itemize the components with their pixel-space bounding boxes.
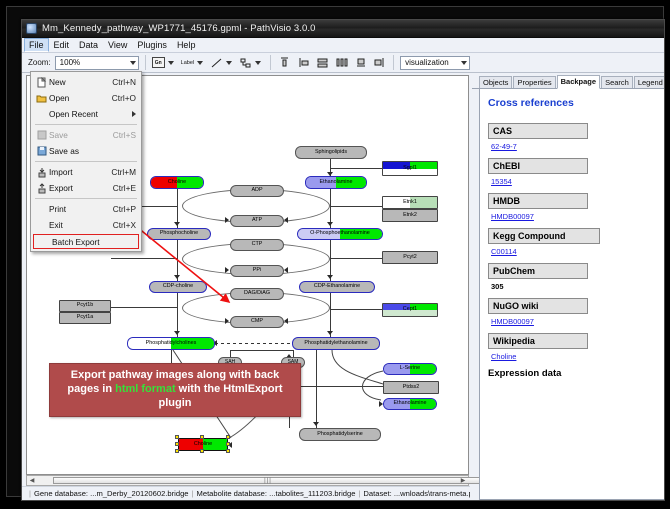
backpage-panel: Cross references CAS 62-49-7 ChEBI 15354… — [479, 89, 665, 500]
menu-item-accelerator: Ctrl+X — [113, 220, 141, 230]
node-label: Choline — [194, 442, 212, 448]
edge-pe-branch — [327, 350, 387, 388]
node-label: Ethanolamine — [320, 180, 353, 186]
interaction-tool[interactable] — [239, 57, 264, 69]
node-label: Phosphatidylcholines — [146, 341, 197, 347]
menu-item-exit[interactable]: Exit Ctrl+X — [31, 217, 141, 233]
arrowhead-icon — [284, 267, 288, 273]
xref-pubchem: PubChem 305 — [488, 263, 660, 291]
zoom-value: 100% — [60, 58, 80, 67]
handle-s[interactable] — [200, 449, 204, 453]
menu-item-open-recent[interactable]: Open Recent — [31, 106, 141, 122]
xref-value-link[interactable]: HMDB00097 — [488, 212, 660, 221]
xref-name: ChEBI — [488, 158, 588, 174]
menu-item-label: Export — [49, 183, 113, 193]
arrowhead-icon — [174, 275, 180, 279]
edge-pcyt1-connector — [111, 307, 177, 308]
menu-item-accelerator: Ctrl+S — [113, 130, 141, 140]
toolbar-separator — [145, 55, 146, 70]
menu-item-new[interactable]: New Ctrl+N — [31, 74, 141, 90]
menu-separator — [35, 198, 137, 199]
edge-sam-stub — [293, 350, 294, 357]
menu-item-label: Print — [49, 204, 113, 214]
menu-item-open[interactable]: Open Ctrl+O — [31, 90, 141, 106]
pathvisio-application-window: Mm_Kennedy_pathway_WP1771_45176.gpml - P… — [21, 19, 665, 501]
node-label: Etnk1 — [403, 200, 417, 206]
node-l-serine[interactable]: L-Serine — [383, 363, 437, 375]
tab-properties[interactable]: Properties — [513, 76, 555, 88]
arrowhead-icon — [174, 331, 180, 335]
menu-separator — [35, 124, 137, 125]
edge-to-etnk — [330, 206, 382, 207]
node-label: Cept1 — [403, 307, 417, 313]
menu-item-save-as[interactable]: Save as — [31, 143, 141, 159]
menu-item-accelerator: Ctrl+E — [113, 183, 141, 193]
status-bar: | Gene database: ...m_Derby_20120602.bri… — [22, 486, 470, 500]
menu-item-label: Open Recent — [49, 109, 132, 119]
edge-to-sgpl1 — [330, 168, 382, 169]
node-label: PPi — [253, 268, 261, 274]
edge-pcyt-connector — [111, 258, 177, 259]
node-adp[interactable]: ADP — [230, 185, 284, 197]
arrowhead-icon — [174, 222, 180, 226]
xref-name: Wikipedia — [488, 333, 588, 349]
node-cept1[interactable]: Cept1 — [382, 303, 438, 317]
xref-name: NuGO wiki — [488, 298, 588, 314]
metabolite-database-value: ...tabolites_111203.bridge — [269, 489, 355, 498]
node-phosphatidylethanolamine[interactable]: Phosphatidylethanolamine — [292, 337, 380, 350]
node-sgpl1[interactable]: Sgpl1 — [382, 161, 438, 176]
folder-open-icon — [34, 92, 49, 105]
blank-icon — [34, 203, 49, 216]
chevron-down-icon[interactable] — [255, 61, 261, 65]
status-divider: | — [192, 489, 194, 498]
node-label: ADP — [251, 188, 262, 194]
node-label: Etnk2 — [403, 213, 417, 219]
xref-cas: CAS 62-49-7 — [488, 123, 660, 151]
align-top-icon[interactable] — [277, 55, 292, 70]
node-label: Sgpl1 — [403, 166, 417, 172]
stack-vertical-icon[interactable] — [315, 55, 330, 70]
arrowhead-icon — [327, 222, 333, 226]
tab-legend[interactable]: Legend — [634, 76, 665, 88]
chevron-down-icon[interactable] — [197, 61, 203, 65]
xref-value-link[interactable]: 62-49-7 — [488, 142, 660, 151]
new-file-icon — [34, 76, 49, 89]
xref-value: 305 — [488, 282, 660, 291]
menu-item-accelerator: Ctrl+M — [111, 167, 141, 177]
arrowhead-icon — [284, 217, 288, 223]
line-tool[interactable] — [210, 57, 235, 69]
node-atp[interactable]: ATP — [230, 215, 284, 227]
xref-wikipedia: Wikipedia Choline — [488, 333, 660, 361]
arrowhead-icon — [225, 318, 229, 324]
save-as-icon — [34, 145, 49, 158]
menu-file[interactable]: File — [24, 38, 49, 52]
arrowhead-icon — [327, 331, 333, 335]
align-right-icon[interactable] — [372, 55, 387, 70]
node-dag-diag[interactable]: DAG/DiAG — [230, 288, 284, 300]
handle-w[interactable] — [175, 442, 179, 446]
handle-sw[interactable] — [175, 449, 179, 453]
scrollbar-grip-icon: ||| — [264, 478, 272, 484]
canvas-horizontal-scrollbar[interactable]: ◀ ||| ▶ — [26, 475, 469, 486]
sidebar-tabstrip: Objects Properties Backpage Search Legen… — [472, 75, 665, 89]
menu-item-label: Exit — [49, 220, 113, 230]
blank-icon — [34, 219, 49, 232]
node-etnk2[interactable]: Etnk2 — [382, 209, 438, 222]
node-label: ATP — [252, 218, 262, 224]
visualization-dropdown[interactable]: visualization — [400, 56, 470, 70]
node-phosphatidylcholines[interactable]: Phosphatidylcholines — [127, 337, 215, 350]
menu-item-label: Save — [49, 130, 113, 140]
xref-name: Kegg Compound — [488, 228, 600, 244]
node-ethanolamine-bottom[interactable]: Ethanolamine — [383, 398, 437, 410]
menu-separator — [35, 161, 137, 162]
edge-pc-pe-dashed — [215, 343, 293, 344]
xref-name: PubChem — [488, 263, 588, 279]
annotation-text-part2: with the HtmlExport plugin — [159, 383, 283, 409]
edge-pe-ps — [316, 350, 317, 428]
scrollbar-thumb[interactable]: ||| — [53, 477, 483, 484]
menu-edit[interactable]: Edit — [49, 38, 75, 52]
node-ethanolamine-top[interactable]: Ethanolamine — [305, 176, 367, 189]
node-label: Ptdss2 — [403, 385, 419, 391]
save-icon — [34, 129, 49, 142]
arrowhead-icon — [225, 217, 229, 223]
pathvisio-icon — [26, 23, 37, 34]
menu-item-accelerator: Ctrl+O — [112, 93, 141, 103]
node-label: Sphingolipids — [315, 150, 347, 156]
node-choline[interactable]: Choline — [150, 176, 204, 189]
node-etnk1[interactable]: Etnk1 — [382, 196, 438, 209]
scroll-right-icon[interactable]: ▶ — [458, 476, 468, 485]
blank-icon — [37, 235, 52, 248]
node-sphingolipids[interactable]: Sphingolipids — [295, 146, 367, 159]
xref-value-link[interactable]: 15354 — [488, 177, 660, 186]
menu-item-label: Import — [49, 167, 111, 177]
xref-hmdb: HMDB HMDB00097 — [488, 193, 660, 221]
handle-e[interactable] — [226, 442, 230, 446]
xref-value-link[interactable]: Choline — [488, 352, 660, 361]
node-label: Ethanolamine — [394, 401, 427, 407]
node-label: Phosphatidylserine — [317, 432, 363, 438]
metabolite-database-label: Metabolite database: — [197, 489, 268, 498]
menu-item-label: Batch Export — [52, 237, 138, 247]
xref-name: HMDB — [488, 193, 588, 209]
chevron-right-icon — [132, 111, 136, 117]
node-ppi[interactable]: PPi — [230, 265, 284, 277]
annotation-callout: Export pathway images along with back pa… — [49, 363, 301, 417]
gene-database-value: ...m_Derby_20120602.bridge — [90, 489, 188, 498]
node-label: Choline — [168, 180, 186, 186]
label-tool[interactable]: Label — [181, 60, 206, 66]
node-ptdss2[interactable]: Ptdss2 — [383, 381, 439, 394]
node-label: O-Phosphoethanolamine — [310, 231, 370, 237]
import-icon — [34, 166, 49, 179]
menu-item-print[interactable]: Print Ctrl+P — [31, 201, 141, 217]
node-pcyt2[interactable]: Pcyt2 — [382, 251, 438, 264]
expression-data-title: Expression data — [488, 368, 660, 379]
node-cdp-ethanolamine[interactable]: CDP-Ethanolamine — [299, 281, 375, 293]
xref-value-link[interactable]: C00114 — [488, 247, 660, 256]
chevron-down-icon — [461, 61, 467, 65]
node-label: CDP-Ethanolamine — [314, 284, 360, 290]
node-label: Phosphatidylethanolamine — [304, 341, 367, 347]
align-bottom-icon[interactable] — [353, 55, 368, 70]
visualization-value: visualization — [405, 58, 449, 67]
node-pcyt1b[interactable]: Pcyt1b — [59, 300, 111, 312]
node-label: CTP — [252, 242, 263, 248]
tab-search[interactable]: Search — [601, 76, 633, 88]
node-label: Pcyt1b — [77, 303, 93, 309]
node-pcyt1a[interactable]: Pcyt1a — [59, 312, 111, 324]
annotation-highlight: html format — [115, 383, 176, 395]
chevron-down-icon[interactable] — [168, 61, 174, 65]
zoom-label: Zoom: — [28, 58, 51, 67]
xref-name: CAS — [488, 123, 588, 139]
menu-data[interactable]: Data — [74, 38, 103, 52]
node-label: CMP — [251, 319, 263, 325]
slide-frame: Mm_Kennedy_pathway_WP1771_45176.gpml - P… — [6, 6, 664, 497]
export-icon — [34, 182, 49, 195]
menu-item-accelerator: Ctrl+P — [113, 204, 141, 214]
menu-plugins[interactable]: Plugins — [132, 38, 172, 52]
xref-value-link[interactable]: HMDB00097 — [488, 317, 660, 326]
menu-view[interactable]: View — [103, 38, 132, 52]
node-label: L-Serine — [400, 366, 420, 372]
node-label: Pcyt1a — [77, 315, 93, 321]
chevron-down-icon — [130, 61, 136, 65]
line-icon — [210, 57, 223, 69]
menu-item-label: New — [49, 77, 112, 87]
status-divider: | — [358, 489, 360, 498]
menu-item-label: Save as — [49, 146, 136, 156]
gene-product-icon: Gn — [152, 57, 165, 68]
handle-nw[interactable] — [175, 435, 179, 439]
cross-references-title: Cross references — [488, 97, 660, 109]
dataset-value: ...wnloads\trans-meta.pgex — [394, 489, 470, 498]
node-o-phosphoethanolamine[interactable]: O-Phosphoethanolamine — [297, 228, 383, 240]
annotation-text: Export pathway images along with back pa… — [50, 369, 300, 410]
distribute-horizontal-icon[interactable] — [334, 55, 349, 70]
menu-help[interactable]: Help — [172, 38, 201, 52]
dataset-label: Dataset: — [363, 489, 391, 498]
arrowhead-icon — [313, 422, 319, 426]
node-phosphocholine[interactable]: Phosphocholine — [147, 228, 211, 240]
status-divider: | — [29, 489, 31, 498]
menu-item-accelerator: Ctrl+N — [112, 77, 141, 87]
handle-n[interactable] — [200, 435, 204, 439]
tab-backpage[interactable]: Backpage — [557, 75, 600, 89]
node-label: CDP-choline — [163, 284, 193, 290]
main-toolbar: Zoom: 100% Gn Label — [22, 53, 664, 73]
node-cdp-choline[interactable]: CDP-choline — [149, 281, 207, 293]
arrowhead-icon — [225, 267, 229, 273]
node-label: DAG/DiAG — [244, 291, 270, 297]
desktop-background: Mm_Kennedy_pathway_WP1771_45176.gpml - P… — [0, 0, 670, 509]
arrowhead-icon — [284, 318, 288, 324]
scroll-left-icon[interactable]: ◀ — [27, 476, 37, 485]
align-left-icon[interactable] — [296, 55, 311, 70]
handle-ne[interactable] — [226, 435, 230, 439]
xref-kegg-compound: Kegg Compound C00114 — [488, 228, 660, 256]
file-dropdown-menu: New Ctrl+N Open Ctrl+O Open Recent — [30, 71, 142, 252]
toolbar-separator — [270, 55, 271, 70]
chevron-down-icon[interactable] — [226, 61, 232, 65]
node-cmp[interactable]: CMP — [230, 316, 284, 328]
zoom-dropdown[interactable]: 100% — [55, 56, 139, 70]
interaction-icon — [239, 57, 252, 69]
menu-item-save: Save Ctrl+S — [31, 127, 141, 143]
xref-nugo-wiki: NuGO wiki HMDB00097 — [488, 298, 660, 326]
sidebar-pane: Objects Properties Backpage Search Legen… — [470, 73, 665, 500]
handle-se[interactable] — [226, 449, 230, 453]
label-icon: Label — [181, 60, 194, 66]
node-label: Pcyt2 — [403, 255, 416, 261]
edge-to-cept1 — [330, 309, 382, 310]
gene-database-label: Gene database: — [34, 489, 88, 498]
node-ctp[interactable]: CTP — [230, 239, 284, 251]
menu-item-import[interactable]: Import Ctrl+M — [31, 164, 141, 180]
blank-icon — [34, 108, 49, 121]
node-phosphatidylserine[interactable]: Phosphatidylserine — [299, 428, 381, 441]
tab-objects[interactable]: Objects — [479, 76, 512, 88]
edge-to-pcyt2 — [330, 258, 382, 259]
node-label: Phosphocholine — [160, 231, 198, 237]
xref-chebi: ChEBI 15354 — [488, 158, 660, 186]
arrowhead-icon — [327, 275, 333, 279]
menu-item-export[interactable]: Export Ctrl+E — [31, 180, 141, 196]
menu-bar: File Edit Data View Plugins Help — [22, 38, 664, 53]
gene-product-tool[interactable]: Gn — [152, 57, 177, 68]
window-titlebar: Mm_Kennedy_pathway_WP1771_45176.gpml - P… — [22, 20, 664, 38]
menu-item-batch-export[interactable]: Batch Export — [33, 234, 139, 249]
window-title: Mm_Kennedy_pathway_WP1771_45176.gpml - P… — [42, 23, 316, 34]
toolbar-separator — [393, 55, 394, 70]
menu-item-label: Open — [49, 93, 112, 103]
